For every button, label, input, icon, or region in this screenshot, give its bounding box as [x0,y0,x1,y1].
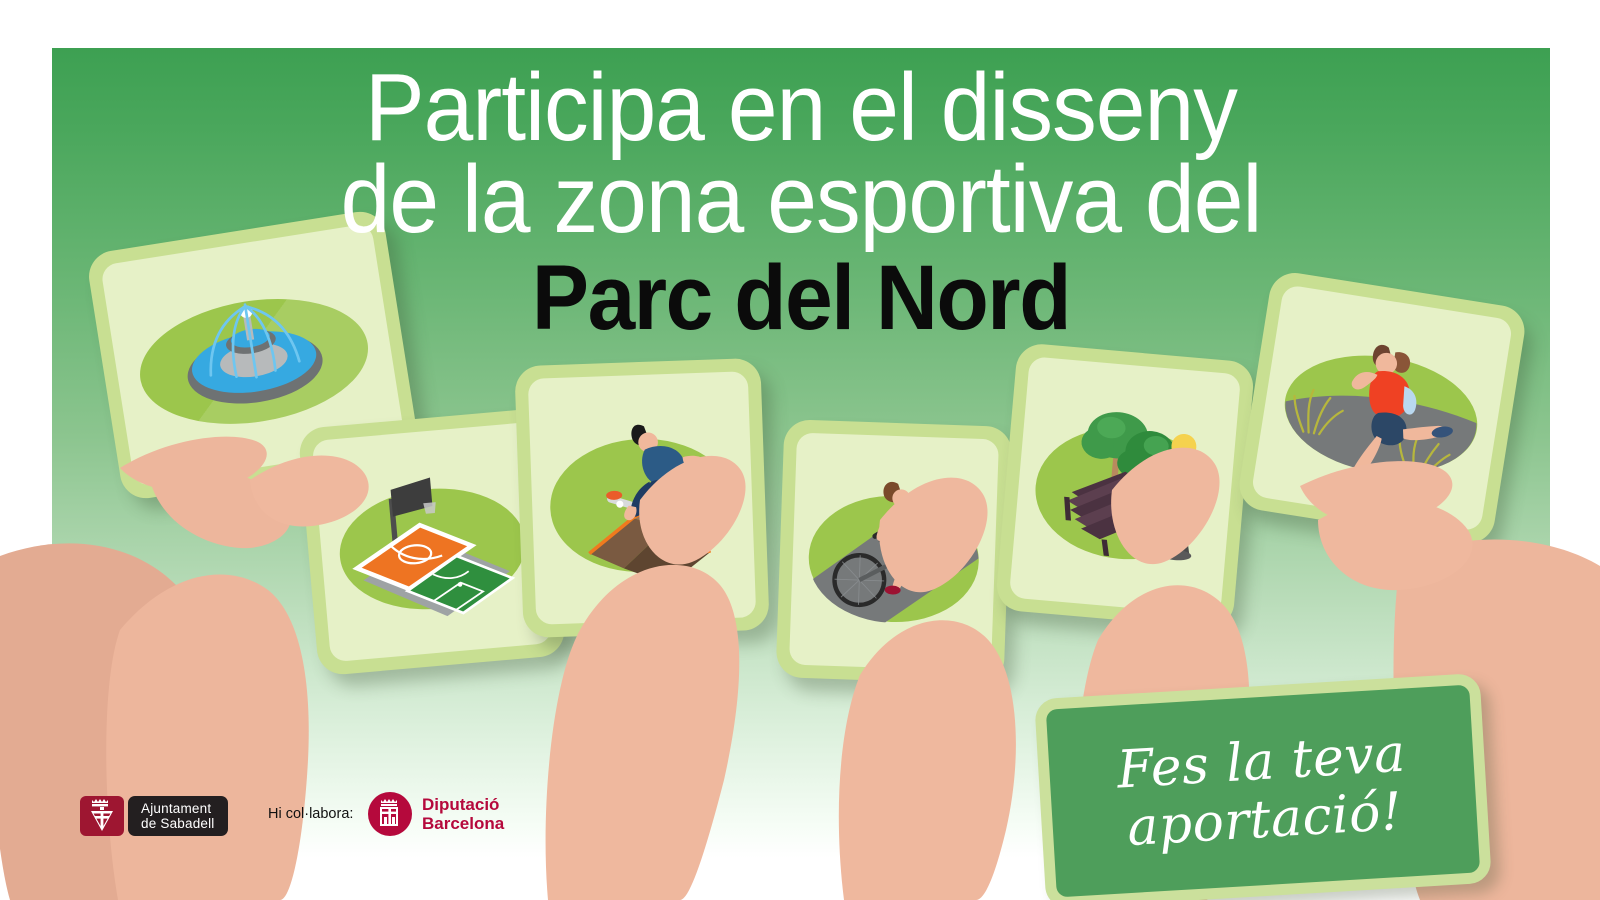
sabadell-crest-icon [80,796,124,836]
ajuntament-name-box: Ajuntament de Sabadell [128,796,228,836]
ajuntament-line-1: Ajuntament [141,801,215,816]
cyclist-icon [789,433,999,672]
card-running-path-inner [1251,284,1514,532]
card-skate-ramp-inner [528,371,756,625]
card-bike-path-inner [789,433,999,672]
card-bike-path[interactable] [776,419,1013,685]
poster-canvas: Participa en el disseny de la zona espor… [0,0,1600,900]
card-bench-trees[interactable] [995,342,1255,630]
diputacio-crest-icon [368,792,412,836]
skateboarder-icon [528,371,756,625]
diputacio-line-2: Barcelona [422,814,504,833]
runner-icon [1251,284,1514,532]
card-bench-trees-inner [1009,356,1241,616]
diputacio-name: Diputació Barcelona [422,795,504,833]
ajuntament-line-2: de Sabadell [141,816,215,831]
card-sports-court-inner [312,422,553,663]
sports-court-icon [312,422,553,663]
footer-logos: Ajuntament de Sabadell Hi col·labora: [0,780,1600,870]
diputacio-line-1: Diputació [422,795,504,814]
card-running-path[interactable] [1236,269,1528,546]
ajuntament-de-sabadell-logo[interactable]: Ajuntament de Sabadell [80,796,228,836]
collaborates-label: Hi col·labora: [268,806,353,822]
card-skate-ramp[interactable] [514,358,769,638]
bench-trees-lamp-icon [1009,356,1241,616]
diputacio-barcelona-logo[interactable]: Diputació Barcelona [368,792,504,836]
